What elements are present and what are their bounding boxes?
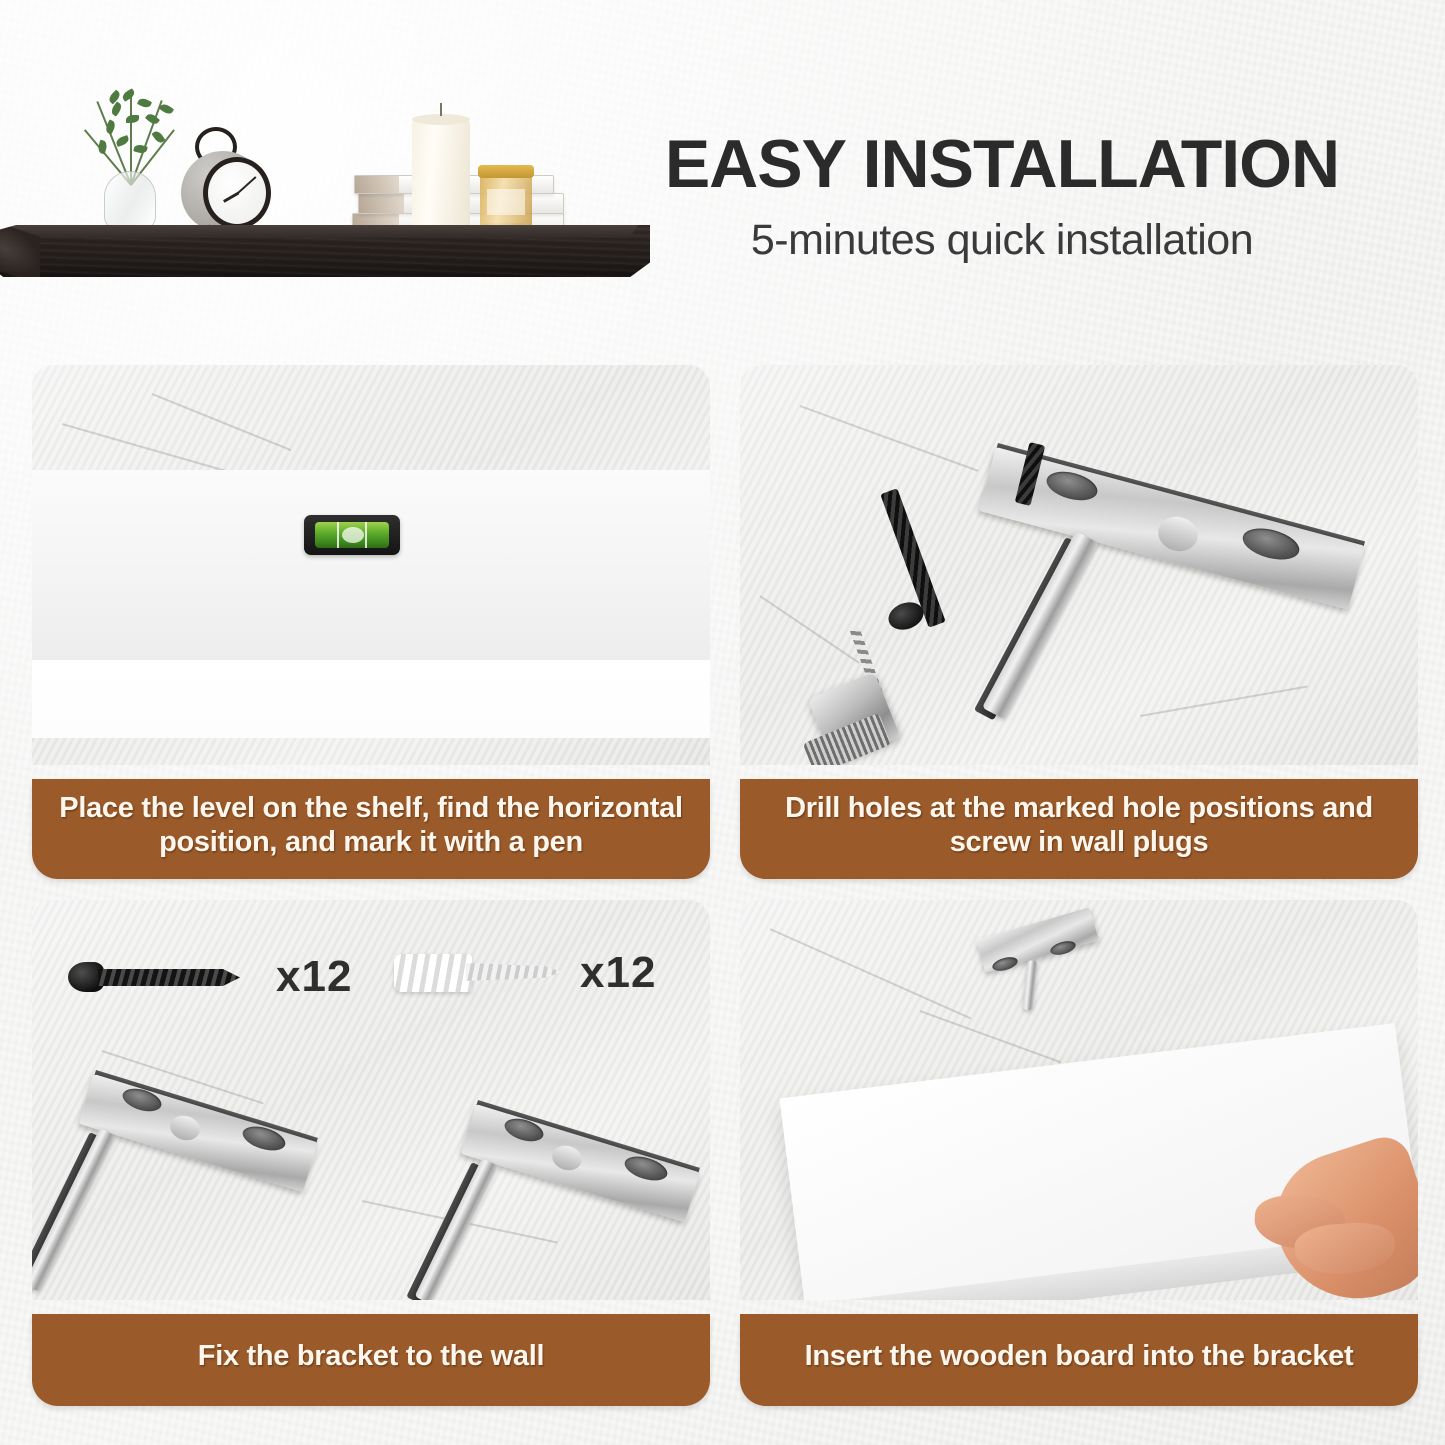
hardware-item-screw: x12 [68, 952, 352, 1002]
hardware-row: x12 x12 [32, 930, 710, 1040]
wall-plug-icon [390, 952, 566, 994]
step-card-1: Place the level on the shelf, find the h… [32, 365, 710, 879]
hero-section: EASY INSTALLATION 5-minutes quick instal… [0, 0, 1445, 340]
hardware-item-anchor: x12 [390, 948, 656, 998]
styled-shelf-scene [0, 75, 660, 325]
bubble-level-icon [304, 515, 400, 555]
step-3-photo: x12 x12 [32, 900, 710, 1300]
screw-qty-label: x12 [276, 952, 352, 1002]
white-shelf-front-face [32, 660, 710, 738]
step-3-caption: Fix the bracket to the wall [32, 1314, 710, 1406]
table-clock-icon [175, 127, 271, 231]
wall-bracket-left-icon [50, 1070, 330, 1300]
glass-vase-icon [104, 171, 156, 229]
step-card-3: x12 x12 [32, 900, 710, 1406]
step-1-caption: Place the level on the shelf, find the h… [32, 779, 710, 879]
page-subtitle: 5-minutes quick installation [587, 216, 1417, 265]
installation-steps-grid: Place the level on the shelf, find the h… [0, 355, 1445, 1445]
step-4-caption-text: Insert the wooden board into the bracket [805, 1339, 1354, 1373]
wall-bracket-icon [980, 425, 1400, 725]
step-card-2: Drill holes at the marked hole positions… [740, 365, 1418, 879]
step-4-photo [740, 900, 1418, 1300]
hero-text-block: EASY INSTALLATION 5-minutes quick instal… [587, 130, 1417, 265]
page-title: EASY INSTALLATION [587, 130, 1417, 198]
wall-bracket-small-icon [976, 936, 1116, 1026]
wall-bracket-right-icon [432, 1100, 710, 1300]
step-card-4: Insert the wooden board into the bracket [740, 900, 1418, 1406]
dark-wood-shelf [0, 225, 650, 277]
step-2-caption: Drill holes at the marked hole positions… [740, 779, 1418, 879]
step-3-caption-text: Fix the bracket to the wall [198, 1339, 544, 1373]
step-4-caption: Insert the wooden board into the bracket [740, 1314, 1418, 1406]
screw-icon [68, 960, 254, 994]
anchor-qty-label: x12 [580, 948, 656, 998]
white-shelf-surface [32, 470, 710, 660]
step-1-photo [32, 365, 710, 765]
step-1-caption-text: Place the level on the shelf, find the h… [54, 791, 688, 859]
step-2-photo [740, 365, 1418, 765]
step-2-caption-text: Drill holes at the marked hole positions… [762, 791, 1396, 859]
